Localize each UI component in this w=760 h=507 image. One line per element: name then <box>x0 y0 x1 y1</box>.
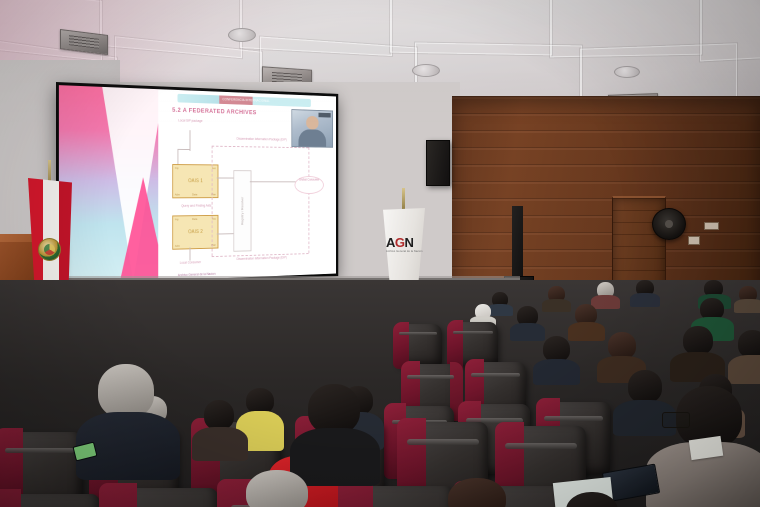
agn-logo: AGN <box>386 236 422 258</box>
audience-member <box>736 286 760 312</box>
diagram-registry-box: Registry / Resolver <box>233 170 251 252</box>
audience-member <box>632 280 658 306</box>
audience-member-front-edge <box>236 470 322 507</box>
agn-letter-n: N <box>405 235 414 250</box>
seat-band <box>505 443 577 449</box>
seat-band <box>407 439 479 445</box>
peru-coat-of-arms-icon <box>38 238 61 261</box>
audience-member <box>674 326 720 380</box>
audience-member <box>570 304 602 340</box>
seat-band <box>453 331 493 334</box>
diagram-caption-top: Dissemination Information Package (DIP) <box>217 136 306 141</box>
auditorium-photo: CONFERENCIA INTERNACIONAL 5.2 A FEDERATE… <box>0 0 760 507</box>
seat[interactable] <box>396 324 442 366</box>
audience-area <box>0 280 760 507</box>
seat-band <box>407 375 454 379</box>
ceiling-speaker-1 <box>228 28 256 42</box>
wall-outlet-plate[interactable] <box>688 236 700 245</box>
diagram-note-left-mid: Query and Finding Aids <box>171 204 222 208</box>
diagram-global-consumer: Global Consumer <box>295 176 324 194</box>
audience-member <box>296 384 372 482</box>
wall-fan-icon <box>652 208 686 240</box>
diagram-note-left-top: Local SIP package <box>171 118 210 123</box>
agn-subtitle: Archivo General de la Nacion <box>386 250 424 253</box>
eyeglasses-icon <box>662 412 690 428</box>
seat-band <box>544 416 603 421</box>
ceiling-speaker-3 <box>614 66 640 78</box>
audience-member <box>536 336 576 384</box>
agn-letter-a: A <box>386 235 395 250</box>
seat-band <box>471 373 520 377</box>
seat[interactable] <box>106 488 218 507</box>
diagram-dip-path-top <box>212 146 309 149</box>
seat-trim <box>99 483 137 507</box>
agn-letter-g: G <box>395 235 405 250</box>
audience-member <box>545 286 569 310</box>
audience-member <box>512 306 542 340</box>
wall-switch-plate[interactable] <box>704 222 719 230</box>
seat[interactable] <box>0 494 100 507</box>
audience-member-front-edge <box>560 492 630 507</box>
peru-flag <box>28 178 72 290</box>
seat-trim <box>0 489 21 507</box>
audience-member-front-edge <box>440 478 518 507</box>
seat-band <box>5 448 74 453</box>
projection-screen: CONFERENCIA INTERNACIONAL 5.2 A FEDERATE… <box>56 82 338 288</box>
seat[interactable] <box>342 486 454 507</box>
ceiling-speaker-2 <box>412 64 440 77</box>
wall-speaker <box>426 140 450 186</box>
slide-diagram: Local SIP package Ing Acc Adm Data Man O… <box>59 85 336 285</box>
diagram-note-left-bottom: Local Consumer <box>169 260 212 265</box>
projected-slide: CONFERENCIA INTERNACIONAL 5.2 A FEDERATE… <box>59 85 336 285</box>
agn-flag-pole <box>402 188 405 212</box>
seat-band <box>399 332 438 335</box>
audience-member <box>196 400 244 458</box>
diagram-registry-label: Registry / Resolver <box>241 197 244 225</box>
attendee-gray-haired-front <box>84 364 168 474</box>
